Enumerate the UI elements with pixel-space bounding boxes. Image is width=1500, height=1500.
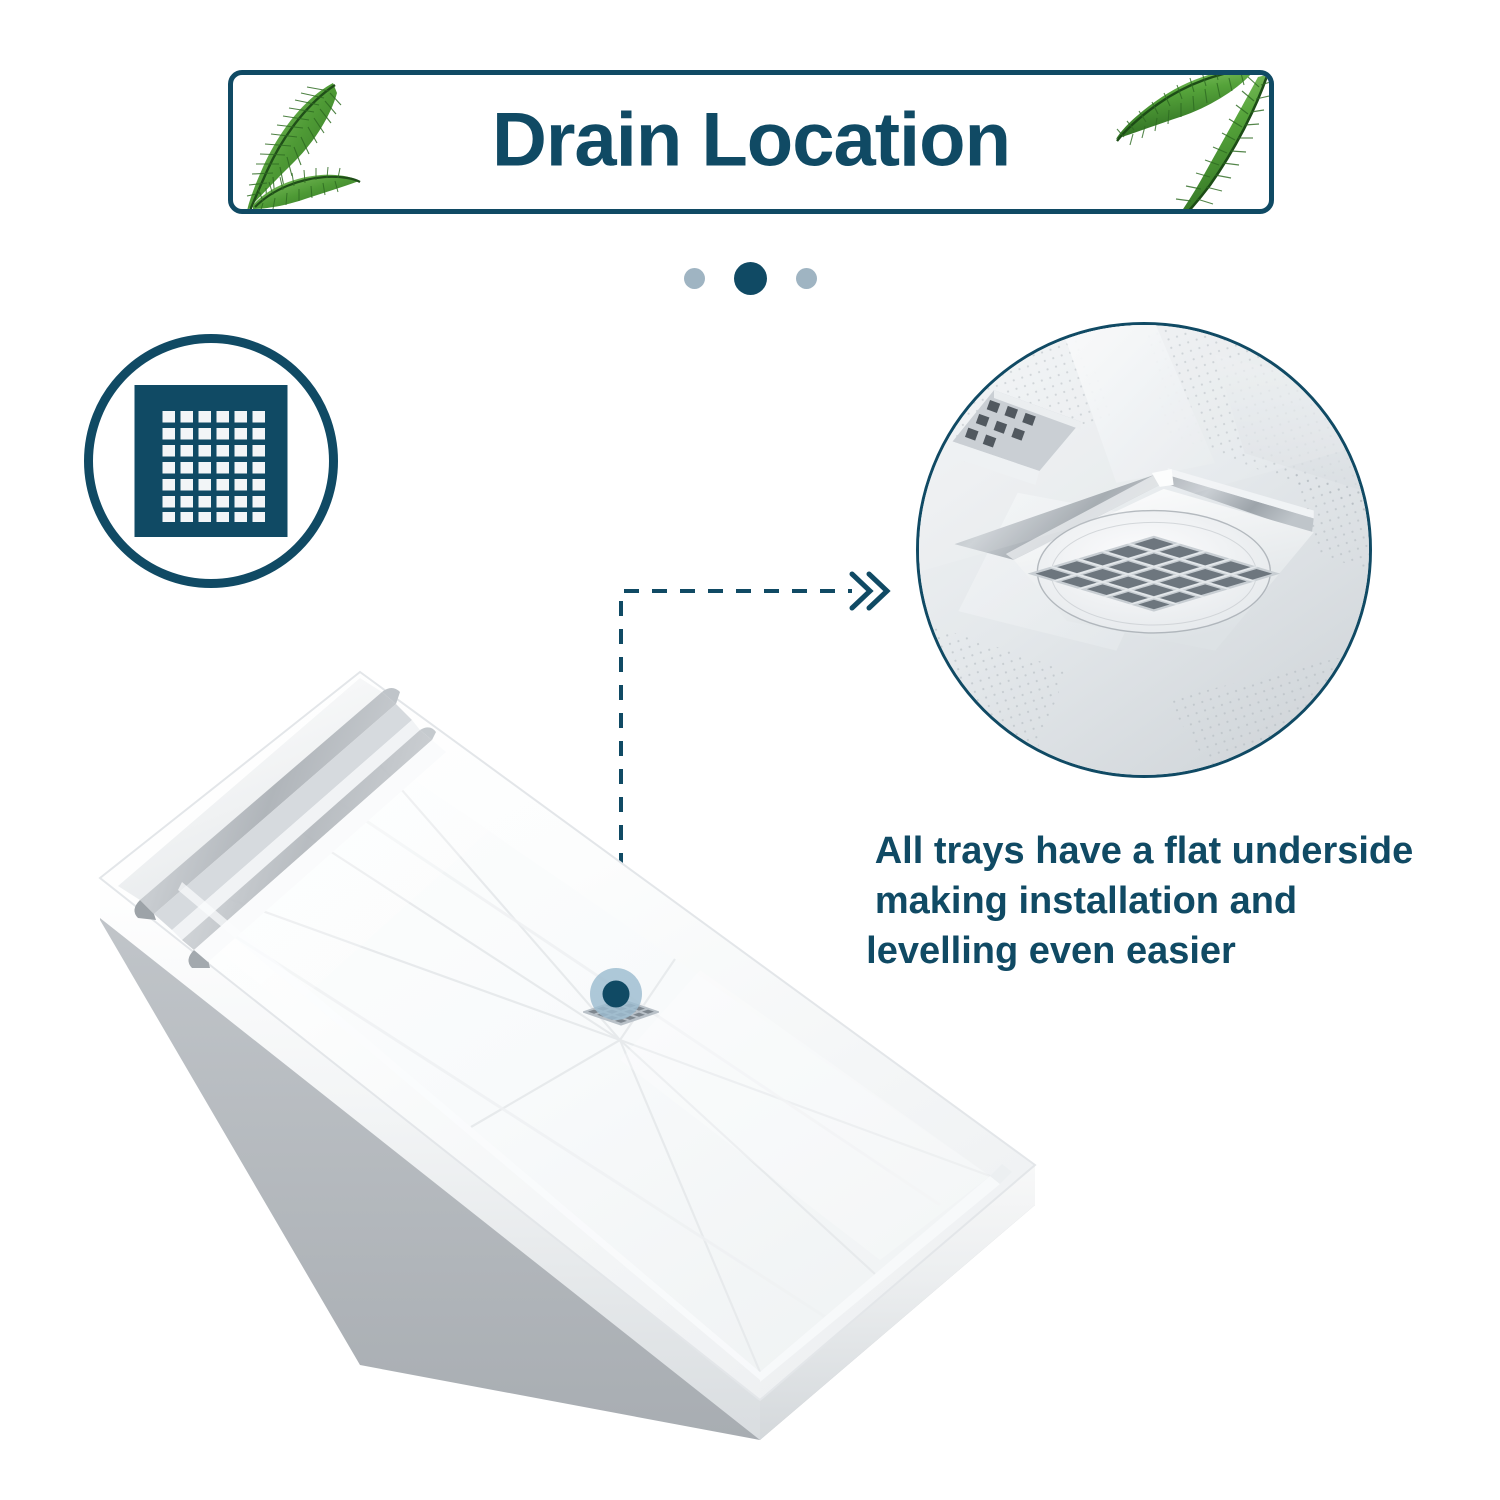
pagination-dots[interactable] [0, 262, 1500, 295]
caption-line-2: making installation and [824, 876, 1464, 926]
feature-icon-circle [84, 334, 338, 588]
caption-text: All trays have a flat underside making i… [824, 826, 1464, 976]
drain-location-marker[interactable] [583, 962, 659, 1038]
drain-grate-grid-icon [135, 385, 288, 537]
caption-line-3: levelling even easier [824, 926, 1464, 976]
caption-line-1: All trays have a flat underside [824, 826, 1464, 876]
title-banner: Drain Location [228, 70, 1274, 214]
infographic-canvas: Drain Location [0, 0, 1500, 1500]
pagination-dot-2-active[interactable] [734, 262, 767, 295]
pagination-dot-1[interactable] [684, 268, 705, 289]
rectangular-shower-tray [60, 620, 1070, 1480]
double-chevron-right-icon [852, 574, 887, 608]
pagination-dot-3[interactable] [796, 268, 817, 289]
page-title: Drain Location [233, 102, 1269, 178]
